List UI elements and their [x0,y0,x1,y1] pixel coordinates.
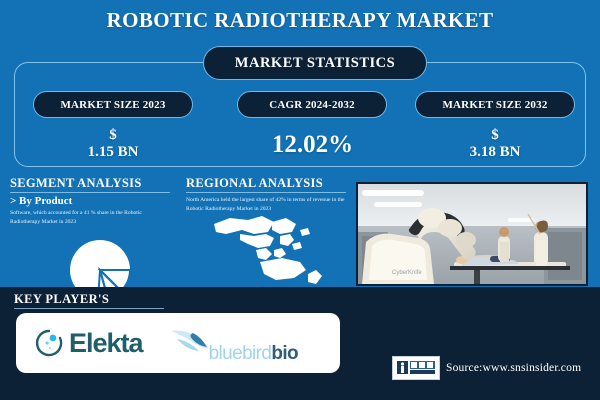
page-title: ROBOTIC RADIOTHERAPY MARKET [0,8,600,33]
stat-label-market-size-2023: MARKET SIZE 2023 [33,91,193,118]
stat-value-market-size-2032: $ 3.18 BN [415,127,575,161]
stat-amount-2023: 1.15 BN [33,144,193,161]
regional-analysis-body: North America held the largest share of … [186,196,346,213]
key-players-heading: KEY PLAYER'S [14,292,109,307]
stat-currency-2032: $ [415,127,575,144]
infographic-canvas: ROBOTIC RADIOTHERAPY MARKET MARKET STATI… [0,0,600,400]
source-text: Source:www.snsinsider.com [446,362,581,374]
segment-divider [10,192,170,193]
segment-analysis-subheading: > By Product [10,195,72,207]
stat-currency-2023: $ [33,127,193,144]
elekta-mark-icon [34,328,64,358]
bluebirdbio-logo-text-dark: bio [271,343,298,365]
regional-divider [186,192,346,193]
segment-analysis-body: Software, which accounted for a 41 % sha… [10,209,166,226]
elekta-logo-text: Elekta [69,328,143,359]
segment-analysis-heading: SEGMENT ANALYSIS [10,176,142,191]
regional-analysis-heading: REGIONAL ANALYSIS [186,176,323,191]
stat-label-market-size-2032: MARKET SIZE 2032 [415,91,575,118]
stat-amount-2032: 3.18 BN [415,144,575,161]
bluebirdbio-logo-text-light: bluebird [209,343,272,365]
world-map-icon [196,212,338,288]
stat-value-market-size-2023: $ 1.15 BN [33,127,193,161]
svg-text:CyberKnife: CyberKnife [392,270,422,276]
sns-insider-logo [392,356,440,380]
key-players-logo-panel: Elekta bluebird bio [16,313,340,373]
market-statistics-card: MARKET STATISTICS MARKET SIZE 2023 CAGR … [14,62,586,167]
key-players-divider [14,308,164,309]
bluebirdbio-logo: bluebird bio [169,321,299,365]
elekta-logo: Elekta [34,328,143,359]
market-statistics-header: MARKET STATISTICS [203,46,427,80]
stat-label-cagr: CAGR 2024-2032 [237,91,387,118]
source-row: Source:www.snsinsider.com [392,356,581,380]
treatment-room-photo: CyberKnife [356,182,588,286]
stat-value-cagr: 12.02% [225,131,400,159]
bluebird-mark-icon [169,321,213,361]
